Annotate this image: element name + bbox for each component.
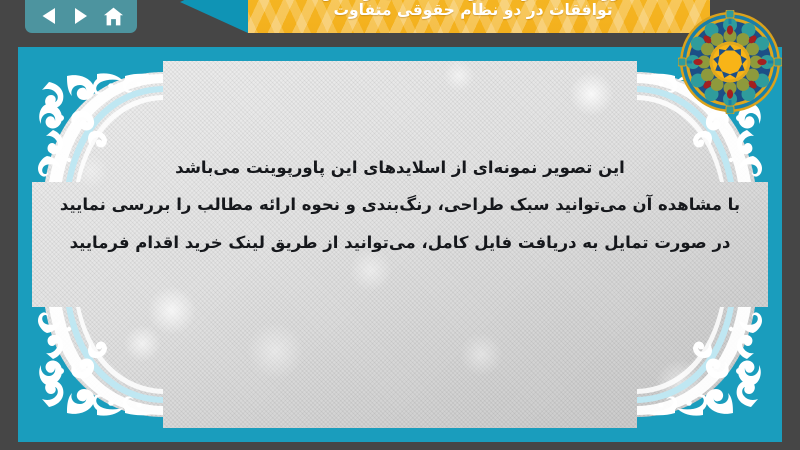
body-line-3: در صورت تمایل به دریافت فایل کامل، می‌تو… xyxy=(58,224,742,261)
arabesque-corner-ornament xyxy=(32,307,163,428)
slide-title-banner: ارزیابی خسارات غیرمادی ناشی از نقض توافق… xyxy=(180,0,710,33)
slide-frame: این تصویر نمونه‌ای از اسلایدهای این پاور… xyxy=(18,47,782,442)
slide-viewer: این تصویر نمونه‌ای از اسلایدهای این پاور… xyxy=(0,0,800,450)
slide-content-area: این تصویر نمونه‌ای از اسلایدهای این پاور… xyxy=(32,61,768,428)
banner-title-body: ارزیابی خسارات غیرمادی ناشی از نقض توافق… xyxy=(248,0,710,33)
back-arrow-icon[interactable] xyxy=(37,5,61,27)
persian-medallion-ornament xyxy=(678,10,782,114)
slide-body-text: این تصویر نمونه‌ای از اسلایدهای این پاور… xyxy=(32,149,768,261)
body-line-1: این تصویر نمونه‌ای از اسلایدهای این پاور… xyxy=(58,149,742,186)
home-icon[interactable] xyxy=(101,5,125,27)
banner-arrow-tail xyxy=(180,0,248,33)
navigation-bar xyxy=(25,0,137,33)
body-line-2: با مشاهده آن می‌توانید سبک طراحی، رنگ‌بن… xyxy=(58,186,742,223)
forward-arrow-icon[interactable] xyxy=(69,5,93,27)
arabesque-corner-ornament xyxy=(637,307,768,428)
title-line-2: توافقات در دو نظام حقوقی متفاوت xyxy=(333,2,612,20)
